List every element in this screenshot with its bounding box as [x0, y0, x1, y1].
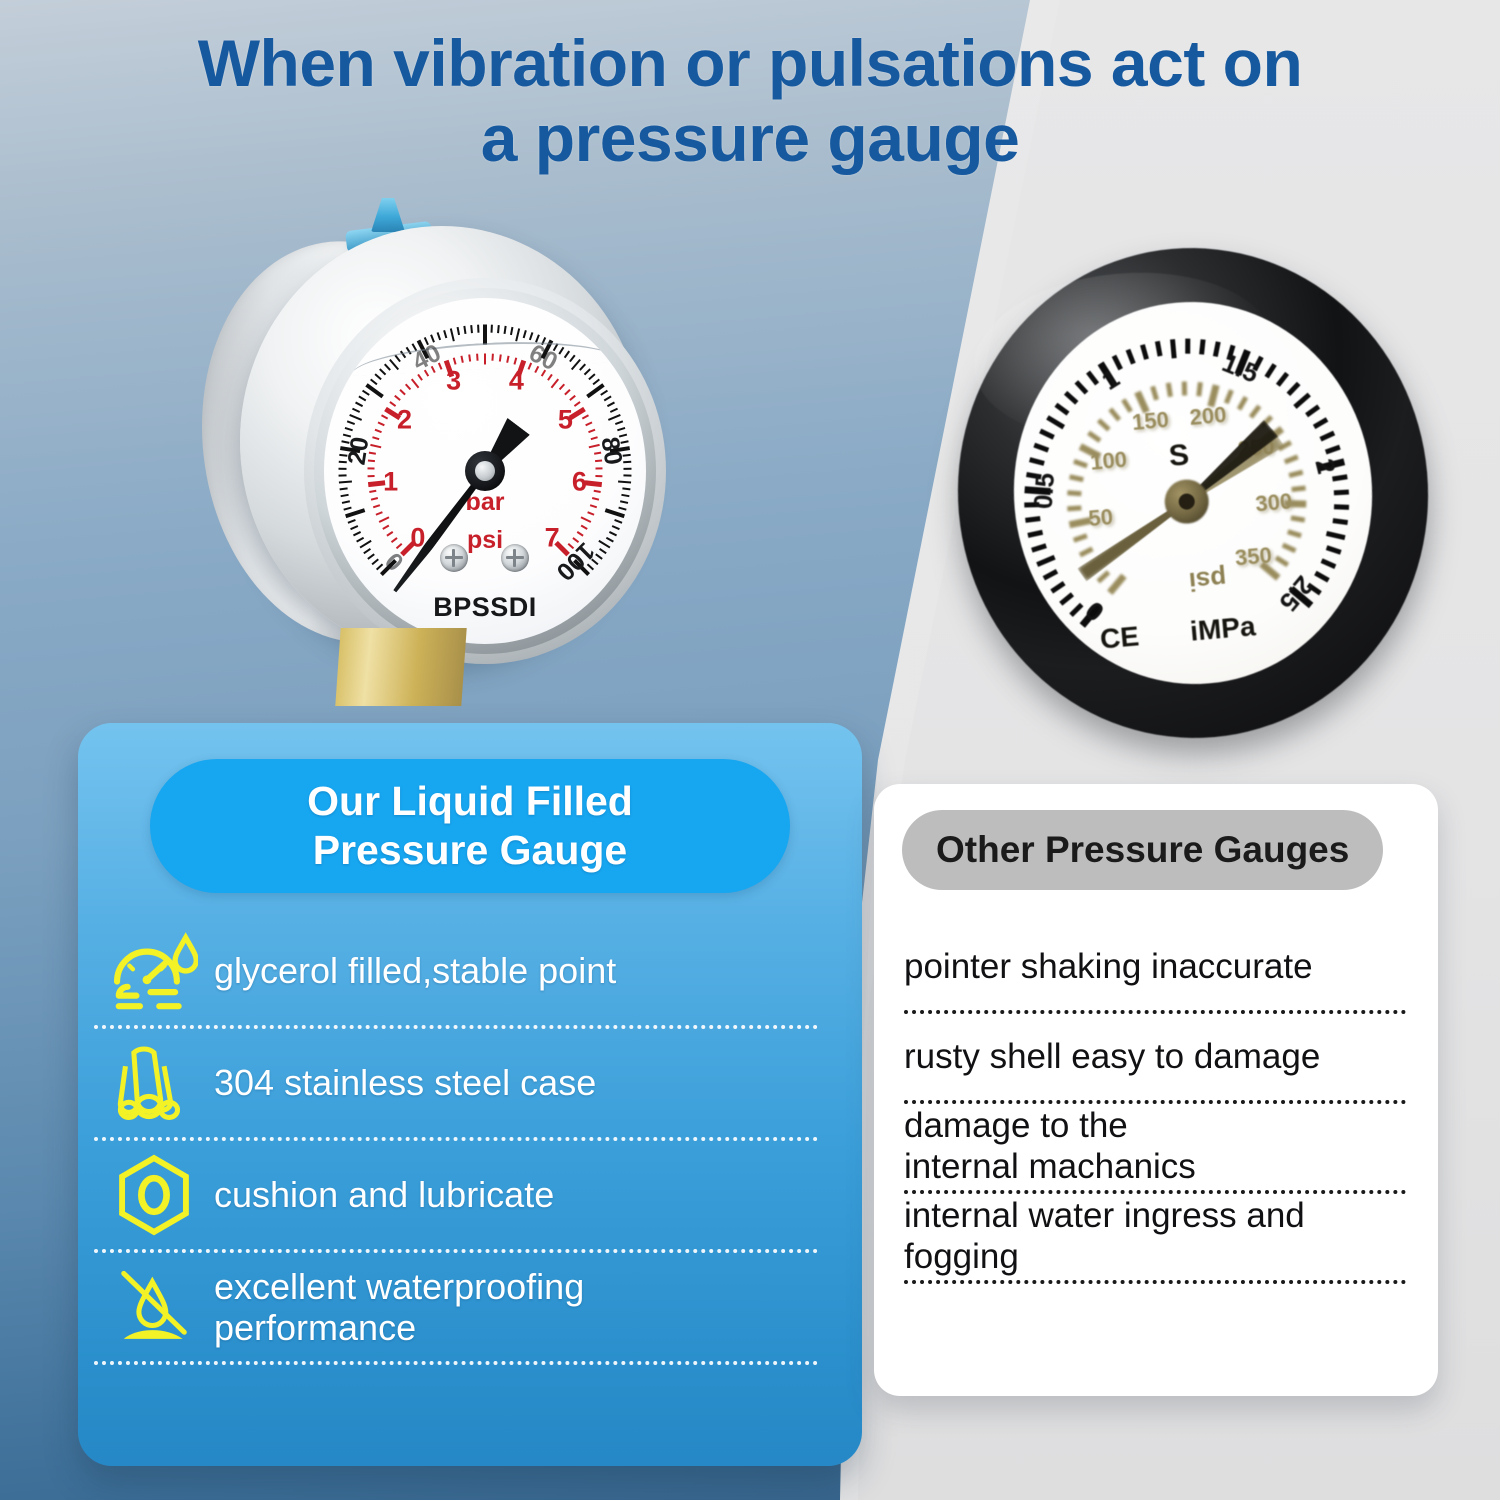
other-gauge-tick-psi: [1107, 574, 1127, 595]
gauge-tick-bar: [394, 395, 401, 401]
gauge-tick-bar: [379, 516, 390, 523]
other-gauge-tick: [1039, 429, 1055, 440]
gauge-tick: [617, 427, 625, 431]
page-title: When vibration or pulsations act on a pr…: [0, 26, 1500, 176]
gauge-tick: [604, 396, 612, 402]
other-gauge-tick: [1059, 592, 1074, 605]
other-gauge-tick-psi: [1087, 431, 1101, 443]
gauge-tick: [358, 396, 366, 402]
other-gauge-tick: [1293, 393, 1311, 409]
gauge-tick-bar: [590, 504, 597, 508]
gauge-tick-bar: [399, 389, 405, 395]
other-gauge-psi-number: 300: [1254, 489, 1293, 518]
other-gauge-image: 00.511.522.5 50100150200250300350 S psi …: [938, 228, 1449, 757]
gauge-tick: [437, 332, 441, 340]
other-gauge-unit-label-mpa: iMPa: [1189, 610, 1257, 648]
gauge-tick-bar: [381, 414, 388, 419]
page-title-line-2: a pressure gauge: [0, 101, 1500, 176]
gauge-tick: [606, 537, 614, 543]
gauge-tick: [515, 328, 520, 341]
gauge-tick: [608, 414, 621, 421]
gauge-tick: [622, 487, 630, 490]
other-gauge-tick-psi: [1290, 516, 1305, 523]
other-gauge-tick: [1305, 405, 1320, 418]
other-gauge-tick: [1332, 518, 1348, 525]
other-gauge-tick: [1199, 339, 1205, 354]
gauge-tick: [607, 402, 615, 408]
other-gauge-tick: [1326, 531, 1346, 540]
other-gauge-tick-psi: [1150, 386, 1159, 401]
gauge-tick-bar: [569, 395, 576, 401]
other-gauge-psi-number: 150: [1131, 407, 1170, 436]
our-gauge-panel: Our Liquid Filled Pressure Gauge glycero…: [78, 723, 862, 1466]
other-gauge-tick: [1332, 474, 1348, 481]
gauge-tick: [371, 559, 378, 566]
our-gauge-badge-line-1: Our Liquid Filled: [307, 778, 633, 824]
other-gauge-s-mark: S: [1168, 438, 1191, 474]
gauge-tick-bar: [405, 384, 411, 391]
gauge-droplet-icon: [94, 925, 214, 1017]
gauge-tick-bar: [574, 401, 581, 407]
other-gauge-tick-psi: [1108, 408, 1121, 422]
issue-item: pointer shaking inaccurate: [904, 924, 1408, 1010]
other-gauge-mpa-number: 0.5: [1027, 472, 1060, 510]
other-gauge-badge: Other Pressure Gauges: [902, 810, 1383, 890]
gauge-tick: [618, 480, 631, 483]
other-gauge-psi-number: 350: [1234, 543, 1273, 572]
gauge-bar-number: 7: [545, 523, 560, 554]
other-gauge-tick: [1046, 415, 1065, 429]
other-gauge-tick: [1125, 349, 1135, 365]
gauge-tick-bar: [588, 429, 595, 433]
gauge-tick: [345, 427, 353, 431]
gauge-dial-face: 01234567 020406080100 bar psi BPSSDI: [324, 298, 646, 644]
gauge-tick-bar: [411, 378, 419, 388]
other-gauge-tick: [1286, 382, 1300, 396]
other-gauge-tick-psi: [1079, 547, 1094, 558]
other-gauge-tick: [1213, 341, 1221, 357]
other-gauge-tick-psi: [1073, 459, 1088, 468]
gauge-unit-label-psi: psi: [467, 526, 503, 555]
other-gauge-psi-number: 50: [1087, 504, 1114, 532]
other-gauge-tick-psi: [1282, 543, 1297, 553]
gauge-bar-number: 3: [446, 366, 461, 397]
no-water-droplet-icon: [94, 1261, 214, 1353]
gauge-tick: [623, 474, 631, 476]
issue-separator: [904, 1280, 1406, 1284]
gauge-tick-bar: [389, 401, 396, 407]
other-gauge-ce-mark: CE: [1099, 620, 1141, 655]
gauge-tick: [529, 332, 533, 340]
other-gauge-tick-psi: [1097, 418, 1111, 431]
other-gauge-tick-psi: [1196, 382, 1203, 396]
our-gauge-badge-label: Our Liquid Filled Pressure Gauge: [307, 777, 633, 875]
gauge-tick: [345, 508, 365, 518]
gauge-tick: [370, 379, 377, 386]
gauge-tick-bar: [368, 475, 375, 477]
gauge-psi-number: 0: [380, 546, 410, 576]
gauge-tick: [599, 548, 607, 554]
page-title-line-1: When vibration or pulsations act on: [198, 26, 1303, 100]
gauge-bar-number: 1: [383, 466, 398, 497]
gauge-tick: [614, 519, 622, 524]
other-gauge-mpa-number: 1.5: [1217, 348, 1262, 390]
gauge-tick-bar: [391, 537, 398, 543]
gauge-tick: [612, 525, 620, 530]
gauge-tick-bar: [376, 511, 383, 515]
gauge-psi-number: 20: [343, 435, 376, 467]
gauge-tick: [356, 537, 364, 543]
gauge-tick: [450, 328, 455, 341]
other-gauge-tick-psi: [1067, 490, 1081, 496]
other-gauge-tick: [1334, 504, 1349, 510]
gauge-tick: [367, 553, 375, 559]
other-gauge-tick: [1042, 569, 1058, 581]
gauge-tick: [349, 414, 362, 421]
other-gauge-tick-psi: [1287, 529, 1302, 538]
gauge-tick-bar: [367, 467, 374, 469]
other-gauge-tick: [1064, 391, 1079, 405]
steel-tubes-icon: [94, 1037, 214, 1129]
gauge-tick: [457, 327, 460, 335]
gauge-psi-number: 80: [594, 435, 627, 467]
gauge-tick: [355, 402, 363, 408]
gauge-dial-screw-left: [440, 544, 468, 572]
gauge-tick-bar: [582, 414, 589, 419]
gauge-tick: [338, 468, 346, 470]
gauge-tick-bar: [375, 429, 382, 433]
gauge-tick: [342, 500, 350, 504]
other-gauge-tick: [1036, 555, 1055, 567]
other-gauge-issue-list: pointer shaking inaccuraterusty shell ea…: [904, 924, 1408, 1284]
hex-nut-oil-icon: [94, 1149, 214, 1241]
gauge-tick-bar: [382, 525, 389, 530]
gauge-needle-hub-cap: [475, 461, 495, 481]
other-gauge-tick-psi: [1096, 570, 1110, 583]
other-gauge-tick: [1334, 490, 1349, 496]
other-gauge-tick: [1319, 431, 1335, 442]
gauge-tick: [363, 548, 371, 554]
gauge-vent-plug-icon: [371, 198, 405, 232]
gauge-tick-bar: [551, 378, 559, 388]
gauge-tick: [340, 487, 348, 490]
gauge-tick-bar: [373, 504, 380, 508]
other-gauge-tick: [1185, 339, 1190, 354]
gauge-tick: [353, 531, 361, 536]
other-gauge-tick: [1074, 380, 1088, 394]
other-gauge-tick-psi: [1288, 470, 1303, 478]
other-gauge-tick-psi: [1166, 383, 1173, 398]
other-gauge-psi-number: 200: [1189, 402, 1228, 431]
our-gauge-feature-list: glycerol filled,stable point304 stainles…: [94, 919, 846, 1367]
gauge-tick: [588, 373, 595, 380]
gauge-tick-bar: [594, 490, 601, 493]
gauge-bar-number: 4: [509, 366, 524, 397]
gauge-tick-bar: [559, 384, 565, 391]
gauge-tick-bar: [595, 467, 602, 469]
issue-item: damage to theinternal machanics: [904, 1104, 1408, 1190]
issue-item: internal water ingress andfogging: [904, 1194, 1408, 1280]
feature-separator: [94, 1249, 818, 1253]
other-gauge-tick-psi: [1249, 405, 1261, 419]
gauge-tick: [339, 480, 352, 483]
other-gauge-tick-psi: [1274, 556, 1289, 568]
gauge-tick: [497, 325, 500, 333]
gauge-tick: [620, 500, 628, 504]
gauge-tick-bar: [587, 511, 594, 515]
other-gauge-tick: [1112, 355, 1123, 371]
our-gauge-badge-line-2: Pressure Gauge: [313, 827, 628, 873]
gauge-brand-label: BPSSDI: [433, 592, 537, 623]
gauge-tick: [483, 324, 487, 344]
liquid-filled-gauge-image: 01234567 020406080100 bar psi BPSSDI: [196, 196, 646, 696]
other-gauge-tick: [1155, 341, 1163, 357]
other-gauge-tick-psi: [1237, 396, 1248, 411]
gauge-bar-number: 6: [572, 466, 587, 497]
gauge-tick-bar: [592, 497, 599, 501]
other-gauge-tick: [1086, 371, 1099, 386]
gauge-tick-bar: [595, 475, 602, 477]
gauge-tick: [352, 408, 360, 413]
gauge-tick: [621, 494, 629, 497]
other-gauge-badge-label: Other Pressure Gauges: [936, 829, 1349, 871]
gauge-tick-bar: [585, 421, 592, 426]
gauge-tick: [463, 326, 466, 334]
gauge-tick: [586, 383, 605, 398]
gauge-tick: [350, 525, 358, 530]
hex-nut-oil-icon: [112, 1153, 196, 1237]
feature-separator: [94, 1361, 818, 1365]
gauge-tick-bar: [581, 516, 592, 523]
other-gauge-unit-label-psi: psi: [1188, 563, 1228, 597]
gauge-tick: [618, 507, 626, 511]
other-gauge-tick: [1326, 545, 1342, 554]
gauge-tick: [623, 468, 631, 470]
other-gauge-psi-number: 100: [1089, 447, 1128, 476]
gauge-tick-bar: [386, 531, 393, 537]
gauge-tick: [609, 531, 617, 536]
gauge-tick: [339, 474, 347, 476]
feature-item-label: excellent waterproofingperformance: [214, 1266, 584, 1349]
gauge-tick: [348, 519, 356, 524]
gauge-bar-number: 5: [558, 405, 573, 436]
issue-item: rusty shell easy to damage: [904, 1014, 1408, 1100]
other-gauge-tick: [1320, 558, 1336, 569]
other-gauge-tick: [1325, 445, 1341, 455]
feature-item: glycerol filled,stable point: [94, 919, 846, 1023]
gauge-tick: [443, 330, 447, 338]
feature-item: cushion and lubricate: [94, 1143, 846, 1247]
other-gauge-tick: [1050, 581, 1065, 593]
other-gauge-tick: [1264, 363, 1276, 378]
gauge-tick: [610, 408, 618, 413]
other-gauge-tick: [1313, 417, 1328, 429]
feature-item: 304 stainless steel case: [94, 1031, 846, 1135]
other-gauge-tick-psi: [1073, 533, 1088, 542]
gauge-tick: [504, 326, 507, 334]
gauge-tick: [470, 325, 473, 333]
feature-separator: [94, 1137, 818, 1141]
our-gauge-badge: Our Liquid Filled Pressure Gauge: [150, 759, 790, 893]
other-gauge-tick: [1140, 344, 1149, 360]
gauge-tick-bar: [581, 525, 588, 530]
gauge-tick: [491, 325, 493, 333]
gauge-bar-number: 2: [397, 405, 412, 436]
other-gauge-tick: [1033, 443, 1049, 453]
gauge-tick: [340, 494, 348, 497]
feature-item-label: cushion and lubricate: [214, 1174, 554, 1215]
other-gauge-tick: [1170, 339, 1177, 358]
other-gauge-tick: [1027, 530, 1043, 538]
gauge-tick: [523, 330, 527, 338]
gauge-tick: [615, 420, 623, 425]
other-gauge-tick-psi: [1067, 506, 1081, 512]
gauge-dial-screw-right: [501, 544, 529, 572]
gauge-tick-bar: [371, 497, 378, 501]
gauge-tick: [347, 420, 355, 425]
gauge-tick: [600, 390, 608, 396]
feature-item-label: glycerol filled,stable point: [214, 950, 616, 991]
gauge-bezel: 01234567 020406080100 bar psi BPSSDI: [240, 226, 644, 656]
no-water-droplet-icon: [112, 1265, 196, 1349]
gauge-tick: [579, 364, 586, 371]
other-gauge-tick: [1031, 543, 1047, 552]
other-gauge-tick-psi: [1284, 455, 1299, 465]
other-gauge-tick-psi: [1182, 382, 1187, 396]
feature-item: excellent waterproofingperformance: [94, 1255, 846, 1359]
gauge-tick-bar: [369, 490, 376, 493]
infographic-canvas: When vibration or pulsations act on a pr…: [0, 0, 1500, 1500]
gauge-tick: [584, 368, 591, 375]
feature-separator: [94, 1025, 818, 1029]
other-gauge-tick: [1314, 571, 1330, 583]
gauge-tick-bar: [564, 389, 570, 395]
gauge-brass-stem: [335, 628, 466, 706]
other-gauge-tick-psi: [1069, 474, 1084, 482]
gauge-tick: [362, 390, 370, 396]
gauge-droplet-icon: [110, 927, 198, 1015]
feature-item-label: 304 stainless steel case: [214, 1062, 596, 1103]
gauge-tick-bar: [585, 480, 602, 487]
other-gauge-tick: [1029, 457, 1045, 466]
other-gauge-tick: [1025, 516, 1040, 523]
gauge-tick: [510, 327, 513, 335]
gauge-tick: [343, 507, 351, 511]
gauge-tick: [477, 325, 479, 333]
other-gauge-tick: [1276, 372, 1289, 387]
other-gauge-panel: Other Pressure Gauges pointer shaking in…: [874, 784, 1438, 1396]
other-gauge-tick-psi: [1291, 486, 1305, 493]
gauge-tick-bar: [378, 421, 385, 426]
steel-tubes-icon: [112, 1041, 196, 1125]
other-gauge-mpa-number: 2: [1308, 456, 1342, 478]
other-gauge-tick: [1054, 403, 1069, 416]
